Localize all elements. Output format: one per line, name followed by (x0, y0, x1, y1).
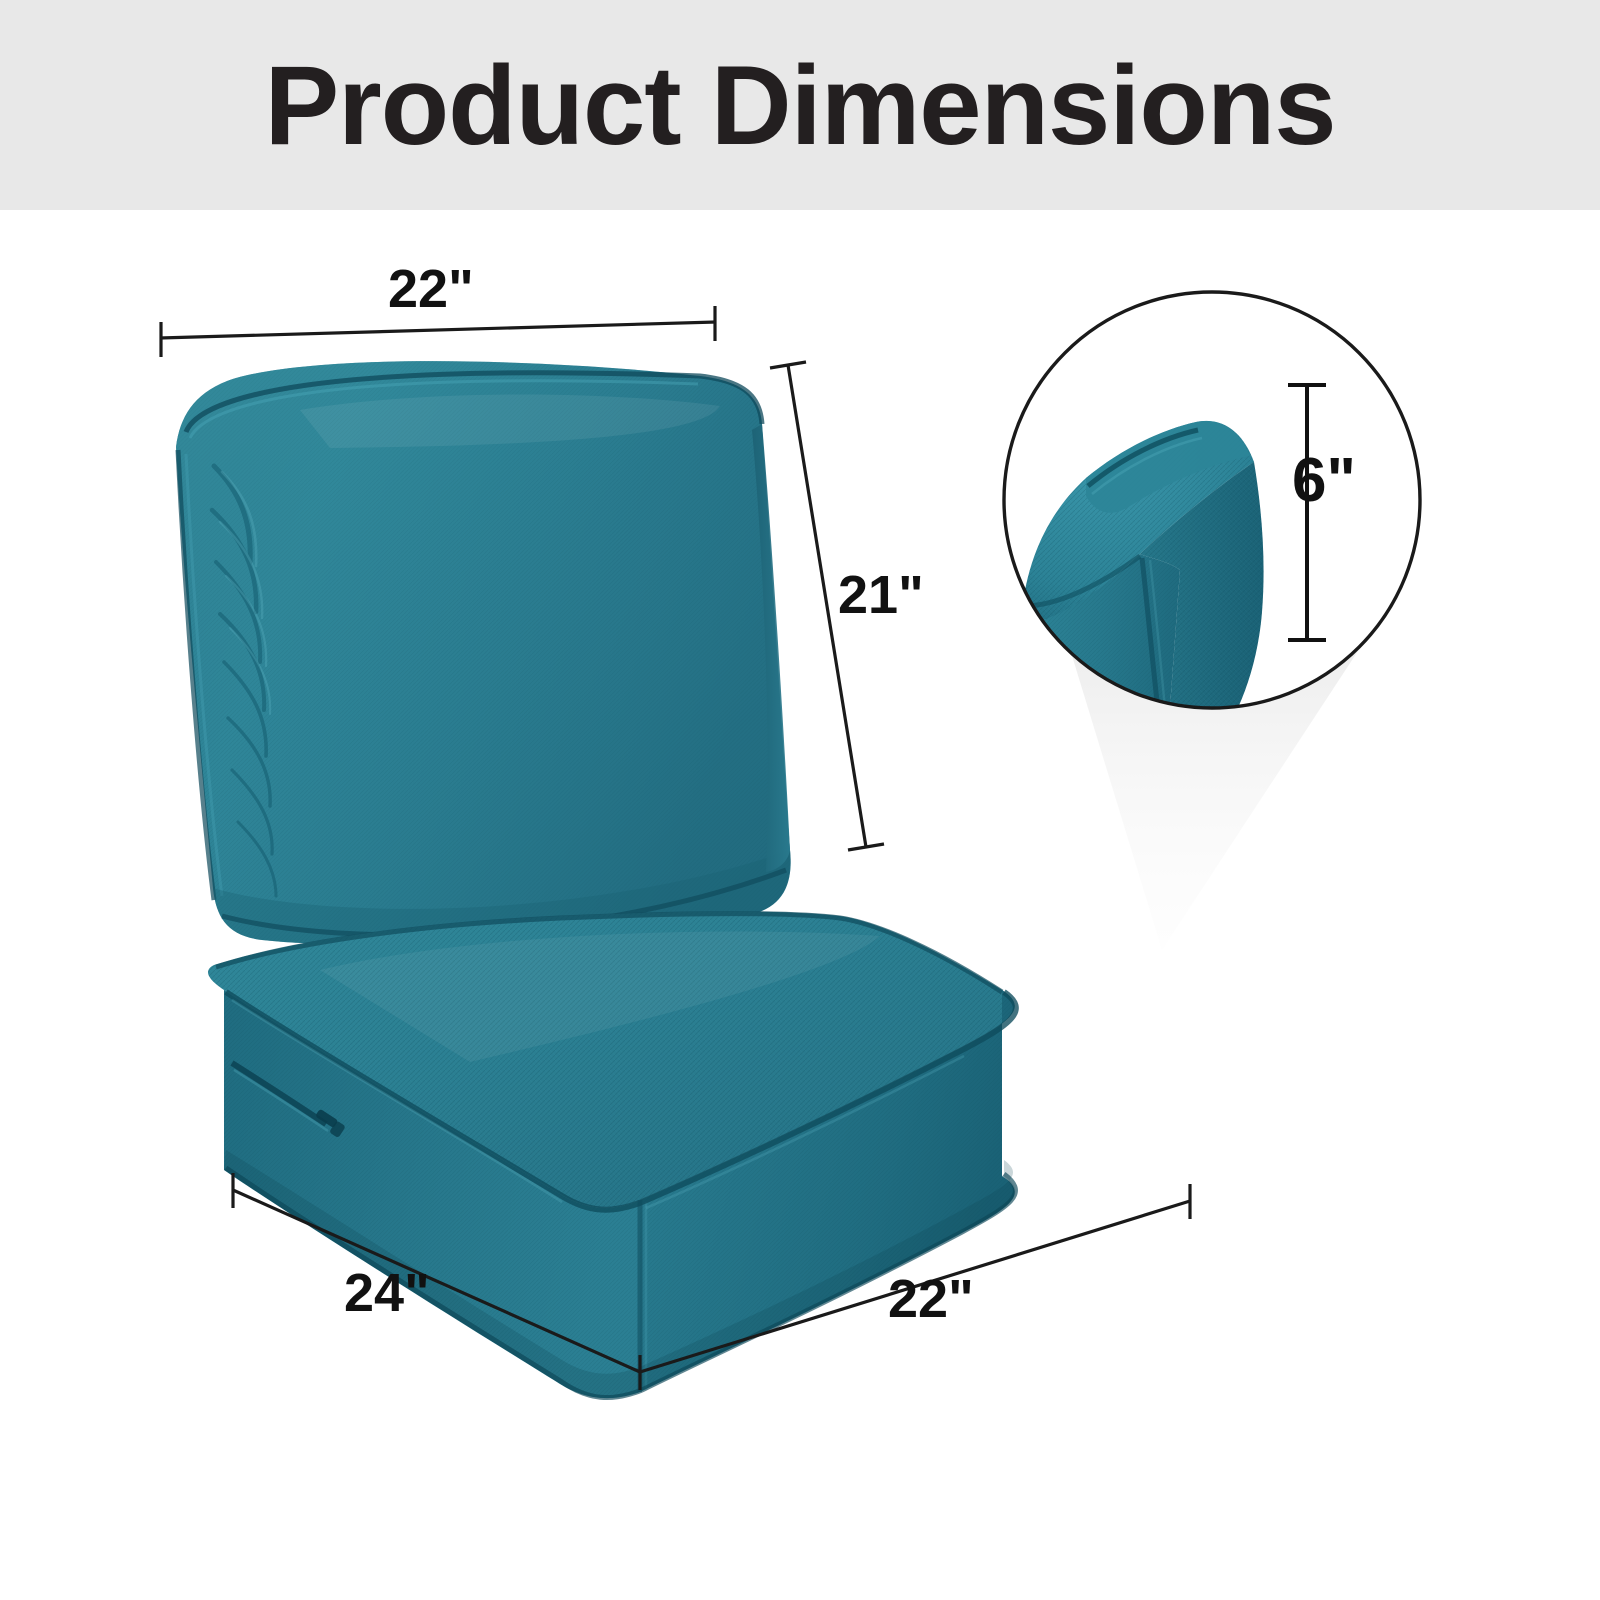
page-title: Product Dimensions (0, 36, 1600, 176)
illustration-stage (0, 210, 1600, 1440)
footer: Measure the seat width and depth, and en… (0, 1440, 1600, 1600)
dimension-label-seat-depth: 24" (344, 1266, 430, 1320)
dimension-label-thickness: 6" (1292, 450, 1356, 512)
product-dimensions-infographic: Product Dimensions (0, 0, 1600, 1600)
back-pillow-cushion (176, 361, 791, 944)
dimension-label-back-height: 21" (838, 568, 924, 622)
dimension-label-seat-width: 22" (888, 1272, 974, 1326)
dimension-label-top-width: 22" (388, 262, 474, 316)
